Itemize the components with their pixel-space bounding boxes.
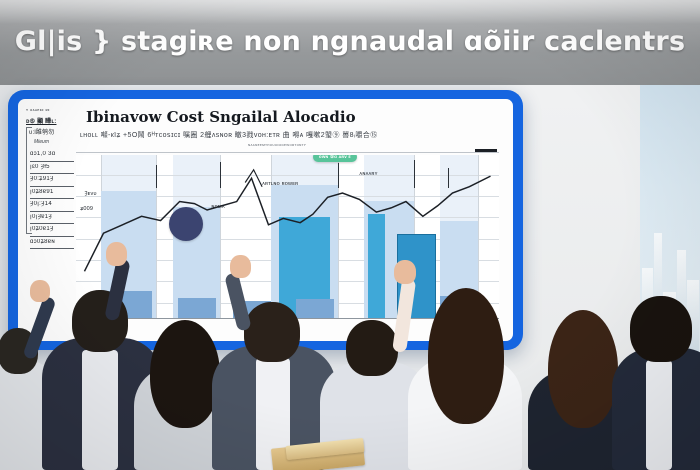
list-item: ꞁɛ0 ȜƗ5 (30, 162, 74, 175)
list-item: ꞁ0ʑ8ɐ91 (30, 187, 74, 200)
list-item: ꞁ0ꞁȜɐ1Ȝ (30, 212, 74, 225)
annotation: ʑ009 (80, 206, 93, 212)
list-item: ꞁ0ʑ0ɐ1Ȝ (30, 224, 74, 237)
audience (0, 280, 700, 470)
person (400, 288, 530, 470)
list-item: Ȝ0ꞁ:Ȝ14 (30, 199, 74, 212)
hand (394, 260, 416, 284)
header-divider (76, 152, 499, 153)
hand (106, 242, 127, 266)
banner-headline: Gl|is } stagiʀe non ngnaudal ɑõiir cacle… (0, 26, 700, 57)
chart-subtitle: ʟʜᴏʟʟ 噸-кїʑ +5О鬧 6ᴴᴛᴄᴏꜱɪᴄɪ 嘱圈 2艃ʌsɴᴏʀ 瞮3… (80, 130, 495, 139)
annotation: ᴀɴᴀᴀʀʏ (359, 171, 377, 177)
presentation-scene: Gl|is } stagiʀe non ngnaudal ɑõiir cacle… (0, 0, 700, 470)
annotation: Ȝᴇᴠᴜ (84, 191, 96, 197)
status-badge[interactable]: ᴏᴡɴ ⑤ɑ ᴀʀᴠ ᴇ (313, 155, 357, 162)
list-item: Ȝ0:ʑ91Ȝ (30, 174, 74, 187)
annotation: ᴀʀᴛʟɴᴏ ʀᴏᴡᴇʀ (262, 181, 298, 187)
slide-header: Ibinavow Cost Sngailal Alocadio ʟʜᴏʟʟ 噸-… (18, 99, 513, 151)
person (612, 288, 700, 470)
annotation: ɴᴏᴍᴀ (211, 204, 224, 210)
banner-sheen (0, 0, 700, 24)
hand (230, 255, 251, 278)
sidebar-value-list: ɑɔ1,0 3ɑ ꞁɛ0 ȜƗ5 Ȝ0:ʑ91Ȝ ꞁ0ʑ8ɐ91 Ȝ0ꞁ:Ȝ14… (30, 149, 74, 249)
header-dash-mark (475, 149, 497, 152)
chart-title: Ibinavow Cost Sngailal Alocadio (86, 108, 356, 126)
chart-subtitle-2: ɴᴀᴀɴᴇᴇᴍᴛʜᴏᴜᴜɪᴏᴅᴇᴡᴏʀᴛᴏɴᴛʏ (248, 142, 306, 147)
list-item: ɑɔ0ʑ8ɐɴ (30, 237, 74, 250)
